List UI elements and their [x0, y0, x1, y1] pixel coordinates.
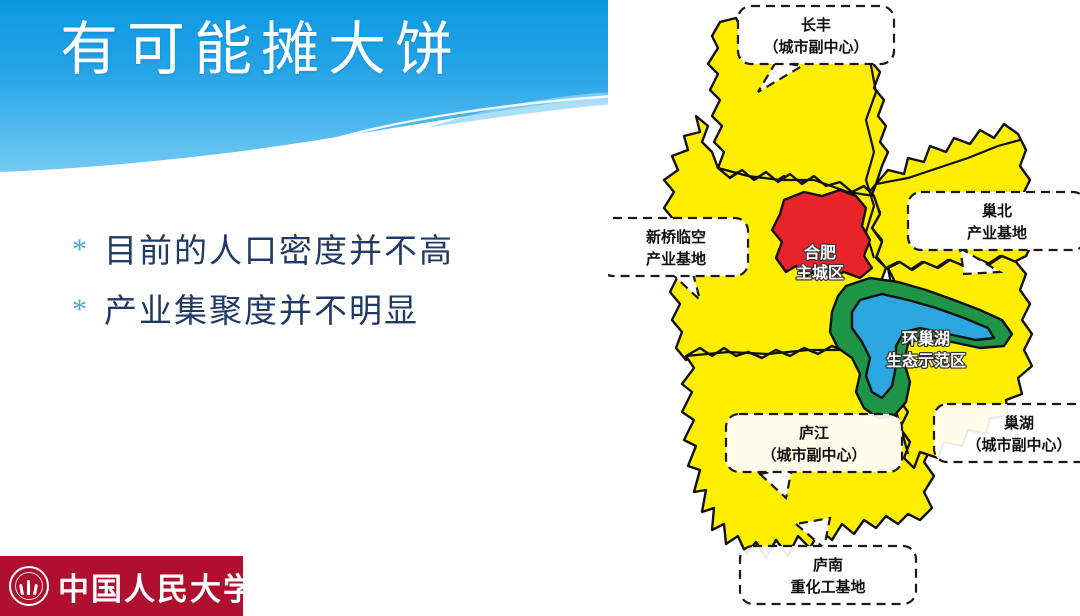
- callout-label-line2: 产业基地: [646, 250, 706, 268]
- callout-label-line2: （城市副中心）: [966, 436, 1071, 454]
- page-title: 有可能摊大饼: [60, 12, 580, 86]
- callout-label-line2: （城市副中心）: [763, 38, 868, 56]
- bullet-list: * 目前的人口密度并不高 * 产业集聚度并不明显: [72, 228, 592, 348]
- map-svg: 合肥 主城区 环巢湖 生态示范区 长丰 （城市副中心）: [608, 0, 1080, 616]
- callout-label-line1: 新桥临空: [646, 228, 706, 246]
- map-region-label-lake-line2: 生态示范区: [886, 351, 966, 370]
- slide-canvas: 有可能摊大饼 * 目前的人口密度并不高 * 产业集聚度并不明显 中国人民大学: [0, 0, 1080, 616]
- bullet-marker-icon: *: [72, 288, 104, 332]
- list-item: * 目前的人口密度并不高: [72, 228, 592, 274]
- callout-label-line1: 庐江: [799, 424, 829, 442]
- callout-label-line1: 庐南: [813, 556, 843, 574]
- map-callout-chaohu-city[interactable]: 巢湖 （城市副中心）: [934, 404, 1080, 462]
- university-logo-band: 中国人民大学: [0, 556, 243, 616]
- header-banner: 有可能摊大饼: [0, 0, 613, 176]
- callout-label-line1: 巢北: [981, 202, 1012, 220]
- map-region-label-hefei-line1: 合肥: [804, 243, 836, 262]
- list-item: * 产业集聚度并不明显: [72, 288, 592, 334]
- hefei-planning-map: 合肥 主城区 环巢湖 生态示范区 长丰 （城市副中心）: [608, 0, 1080, 616]
- renmin-university-emblem-icon: [9, 566, 49, 606]
- callout-label-line2: 重化工基地: [790, 578, 865, 596]
- callout-label-line2: （城市副中心）: [761, 446, 866, 464]
- callout-label-line1: 巢湖: [1003, 414, 1034, 432]
- callout-label-line2: 产业基地: [967, 224, 1027, 242]
- map-region-label-lake-line1: 环巢湖: [902, 329, 950, 348]
- map-region-label-hefei-line2: 主城区: [796, 263, 844, 282]
- university-name: 中国人民大学: [58, 564, 256, 609]
- callout-label-line1: 长丰: [801, 16, 831, 34]
- bullet-text: 目前的人口密度并不高: [104, 228, 454, 274]
- bullet-marker-icon: *: [72, 228, 104, 272]
- bullet-text: 产业集聚度并不明显: [104, 288, 419, 334]
- map-final-geometry: 合肥 主城区 环巢湖 生态示范区 长丰 （城市副中心）: [608, 0, 1080, 616]
